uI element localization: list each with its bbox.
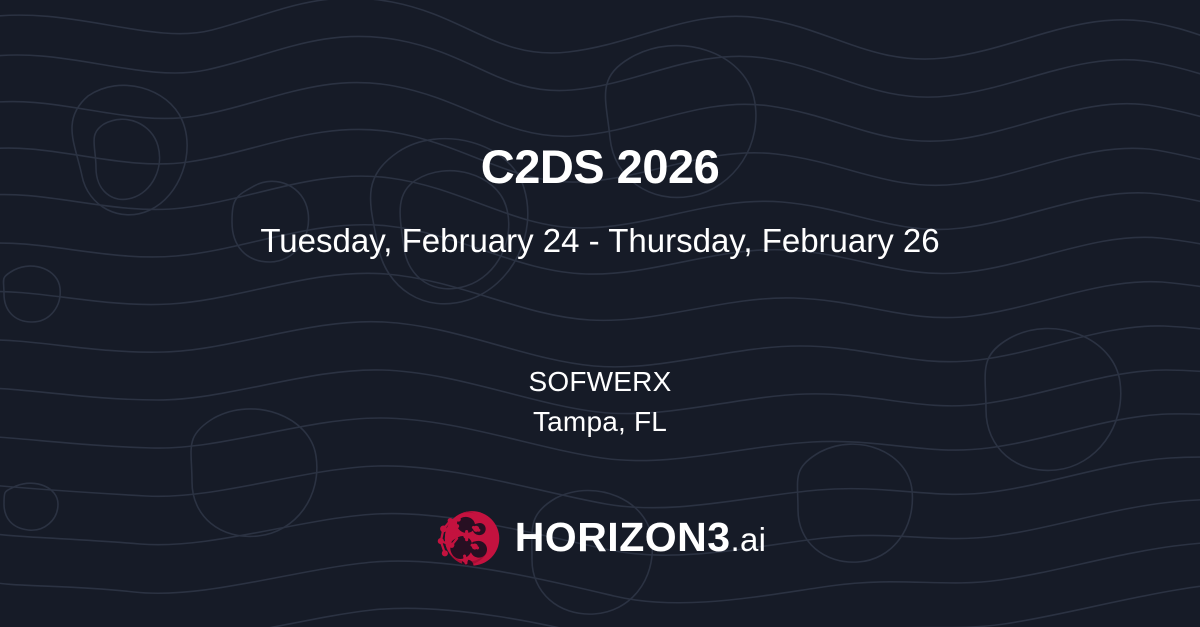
venue-location: Tampa, FL — [0, 402, 1200, 442]
event-dates: Tuesday, February 24 - Thursday, Februar… — [0, 222, 1200, 260]
horizon3-wordmark: HORIZON3 .ai — [515, 517, 767, 558]
event-banner: C2DS 2026 Tuesday, February 24 - Thursda… — [0, 0, 1200, 627]
horizon3-node-network-mark — [434, 503, 502, 571]
venue-name: SOFWERX — [0, 362, 1200, 402]
event-title: C2DS 2026 — [0, 142, 1200, 193]
venue-block: SOFWERX Tampa, FL — [0, 362, 1200, 442]
horizon3-logo: HORIZON3 .ai — [0, 503, 1200, 571]
wordmark-main-text: HORIZON3 — [515, 517, 731, 558]
banner-content: C2DS 2026 Tuesday, February 24 - Thursda… — [0, 0, 1200, 627]
wordmark-suffix-text: .ai — [731, 523, 767, 556]
